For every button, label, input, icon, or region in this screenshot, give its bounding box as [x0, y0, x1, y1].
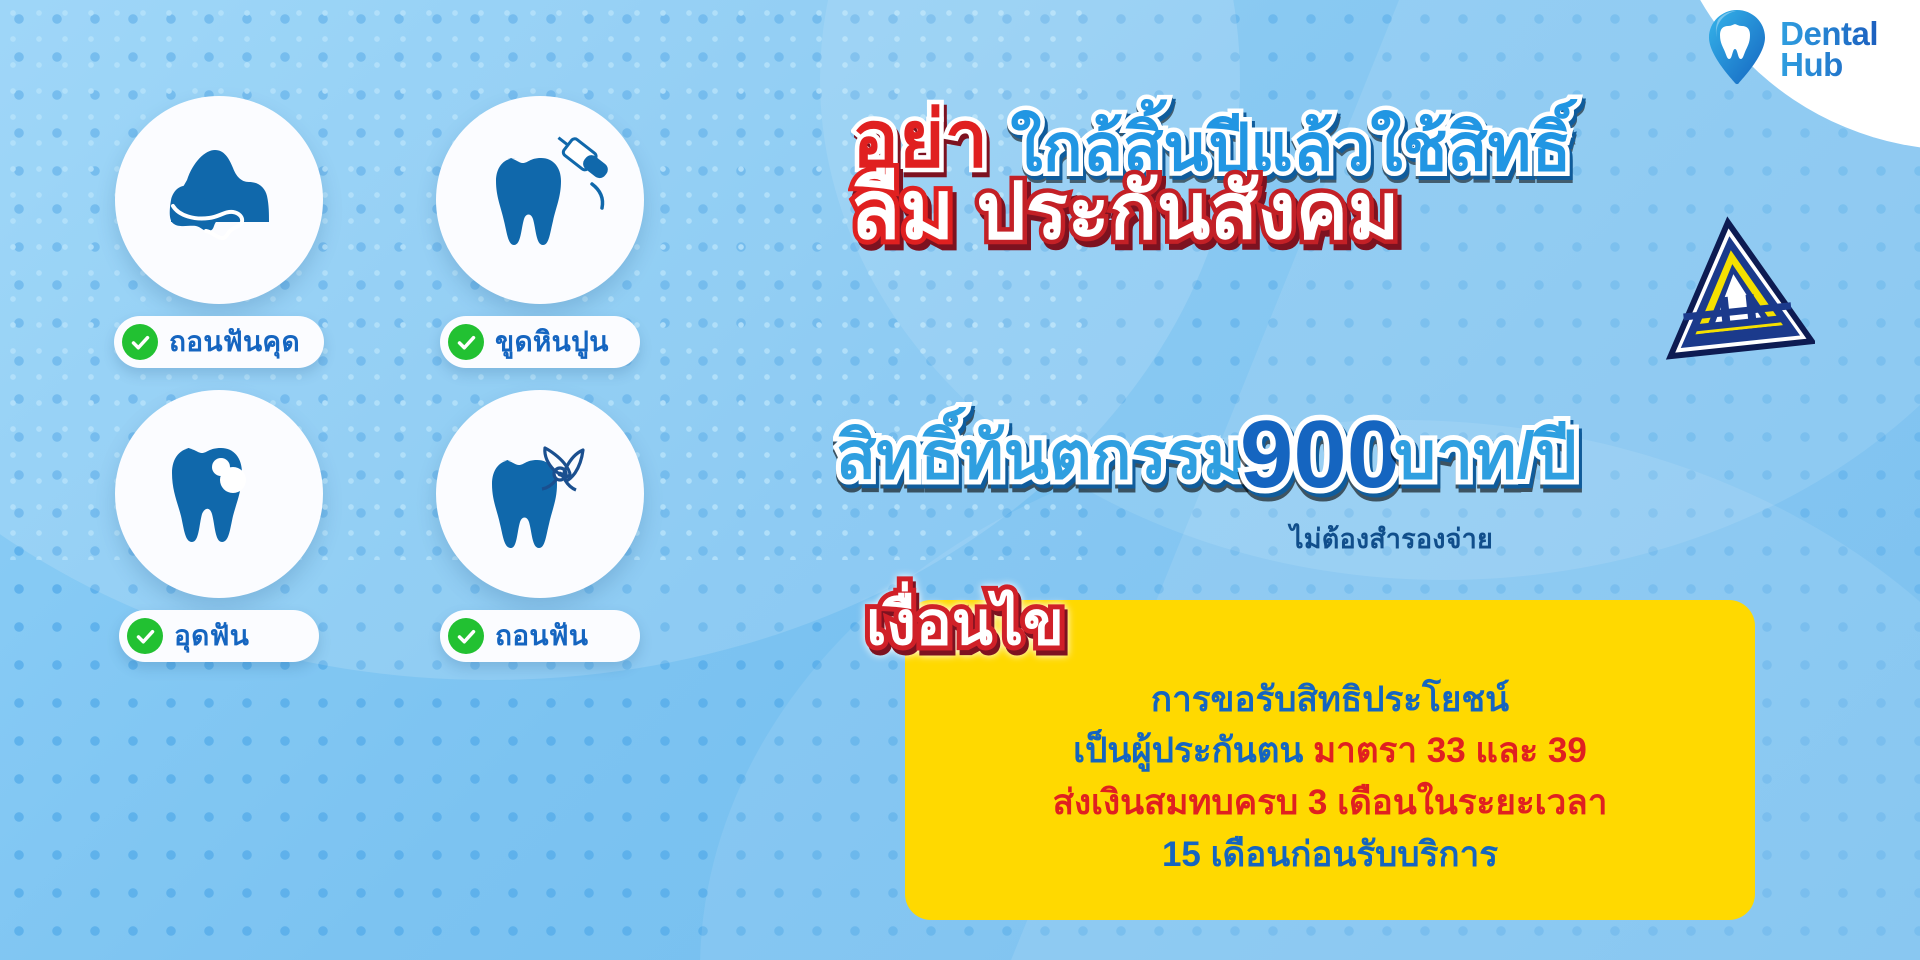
- price-note: ไม่ต้องสำรองจ่าย: [1290, 517, 1493, 560]
- map-pin-tooth-icon: [1706, 8, 1768, 91]
- dental-hub-logo[interactable]: Dental Hub: [1706, 8, 1878, 91]
- service-label: ถอนฟัน: [495, 614, 588, 658]
- services-grid: ถอนฟันคุด: [74, 96, 694, 662]
- logo-line-2: Hub: [1780, 49, 1878, 81]
- service-icon-circle: [436, 390, 644, 598]
- service-icon-circle: [115, 390, 323, 598]
- service-item-scaling[interactable]: ขูดหินปูน: [395, 96, 685, 368]
- green-check-icon: [448, 618, 484, 654]
- service-label-pill[interactable]: ถอนฟันคุด: [114, 316, 324, 368]
- service-label-pill[interactable]: ขูดหินปูน: [440, 316, 640, 368]
- tooth-cavity-icon: [149, 422, 289, 567]
- conditions-line-2-blue: เป็นผู้ประกันตน: [1073, 731, 1313, 770]
- service-item-wisdom-tooth-extraction[interactable]: ถอนฟันคุด: [74, 96, 364, 368]
- impacted-wisdom-tooth-icon: [149, 128, 289, 273]
- green-check-icon: [122, 324, 158, 360]
- tooth-forceps-icon: [470, 422, 610, 567]
- conditions-line-2-red: มาตรา 33 และ 39: [1313, 731, 1587, 770]
- service-icon-circle: [436, 96, 644, 304]
- promo-banner: Dental Hub ถอนฟันคุด: [0, 0, 1920, 960]
- conditions-line-2: เป็นผู้ประกันตน มาตรา 33 และ 39: [1073, 726, 1587, 776]
- headline-phrase-social-security: ประกันสังคม: [966, 168, 1409, 254]
- price-suffix: บาท/ปี: [1394, 403, 1577, 508]
- tooth-scaler-icon: [470, 128, 610, 273]
- service-item-filling[interactable]: อุดฟัน: [74, 390, 364, 662]
- service-label-pill[interactable]: ถอนฟัน: [440, 610, 640, 662]
- conditions-line-3: ส่งเงินสมทบครบ 3 เดือนในระยะเวลา: [1053, 778, 1608, 828]
- logo-wordmark: Dental Hub: [1780, 18, 1878, 81]
- conditions-line-1: การขอรับสิทธิประโยชน์: [1151, 675, 1509, 725]
- conditions-badge: เงื่อนไข: [848, 570, 1082, 677]
- conditions-line-4: 15 เดือนก่อนรับบริการ: [1162, 830, 1498, 880]
- price-amount: 900: [1240, 400, 1400, 510]
- service-label-pill[interactable]: อุดฟัน: [119, 610, 319, 662]
- social-security-office-triangle-icon: [1655, 212, 1815, 362]
- service-label: อุดฟัน: [174, 614, 249, 658]
- green-check-icon: [127, 618, 163, 654]
- service-label: ขูดหินปูน: [495, 320, 609, 364]
- price-prefix: สิทธิ์ทันตกรรม: [836, 403, 1246, 508]
- headline-word-forget: ลืม: [838, 168, 966, 254]
- service-label: ถอนฟันคุด: [169, 320, 300, 364]
- service-item-extraction[interactable]: ถอนฟัน: [395, 390, 685, 662]
- price-line: สิทธิ์ทันตกรรม 900 บาท/ปี: [836, 400, 1577, 510]
- service-icon-circle: [115, 96, 323, 304]
- green-check-icon: [448, 324, 484, 360]
